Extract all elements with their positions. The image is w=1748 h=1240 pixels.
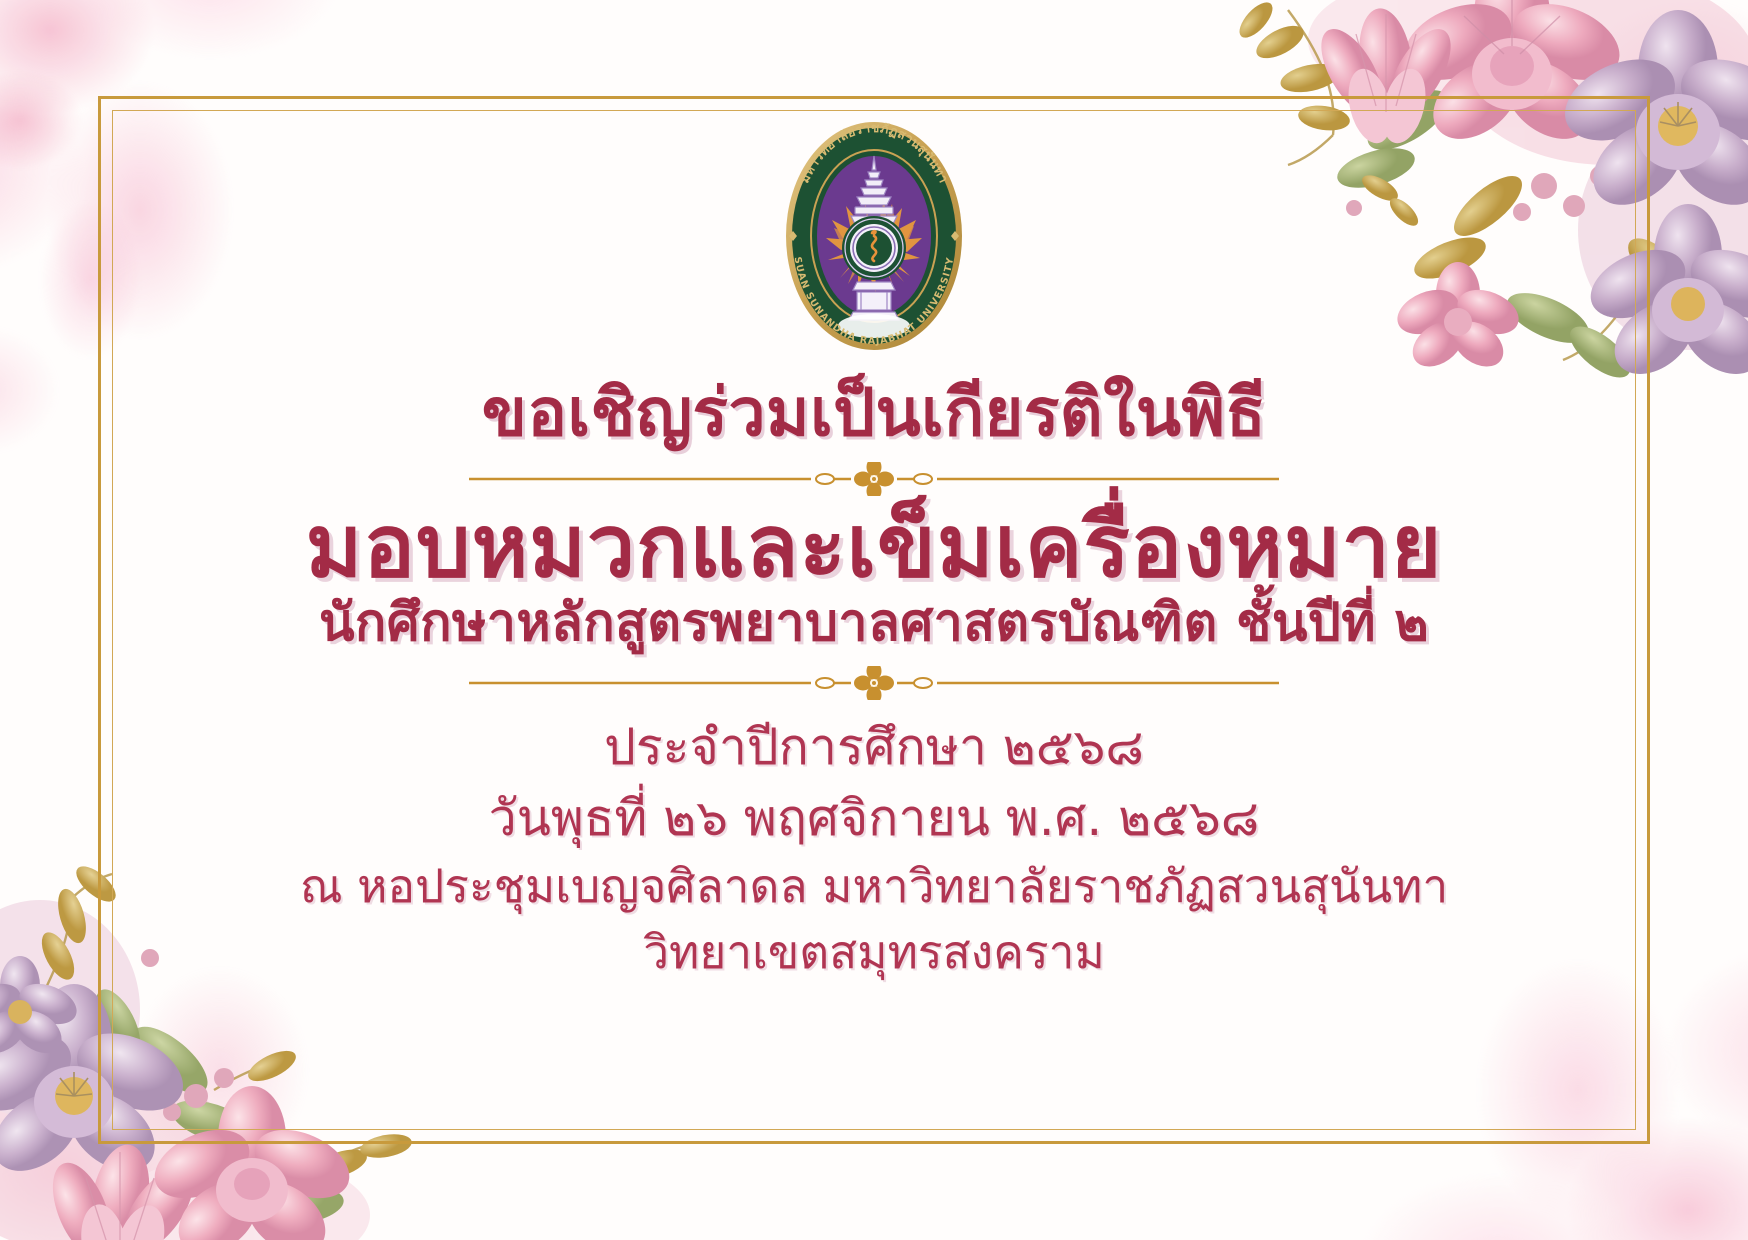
- event-details: ประจำปีการศึกษา ๒๕๖๘ วันพุธที่ ๒๖ พฤศจิก…: [300, 712, 1448, 985]
- invitation-heading-primary: ขอเชิญร่วมเป็นเกียรติในพิธี: [482, 378, 1267, 448]
- invitation-card: มหาวิทยาลัยราชภัฏสวนสุนันทา SUAN SUNANDH…: [0, 0, 1748, 1240]
- venue-line-2: วิทยาเขตสมุทรสงคราม: [300, 920, 1448, 985]
- event-date-line: วันพุธที่ ๒๖ พฤศจิกายน พ.ศ. ๒๕๖๘: [300, 783, 1448, 854]
- ceremony-title: มอบหมวกและเข็มเครื่องหมาย: [306, 502, 1443, 593]
- card-content: มหาวิทยาลัยราชภัฏสวนสุนันทา SUAN SUNANDH…: [0, 0, 1748, 1240]
- ornament-divider-bottom: [459, 666, 1289, 700]
- ornament-divider-top: [459, 462, 1289, 496]
- university-seal-icon: มหาวิทยาลัยราชภัฏสวนสุนันทา SUAN SUNANDH…: [769, 120, 979, 352]
- venue-line-1: ณ หอประชุมเบญจศิลาดล มหาวิทยาลัยราชภัฏสว…: [300, 854, 1448, 919]
- ceremony-subtitle: นักศึกษาหลักสูตรพยาบาลศาสตรบัณฑิต ชั้นปี…: [319, 595, 1429, 652]
- academic-year-line: ประจำปีการศึกษา ๒๕๖๘: [300, 712, 1448, 783]
